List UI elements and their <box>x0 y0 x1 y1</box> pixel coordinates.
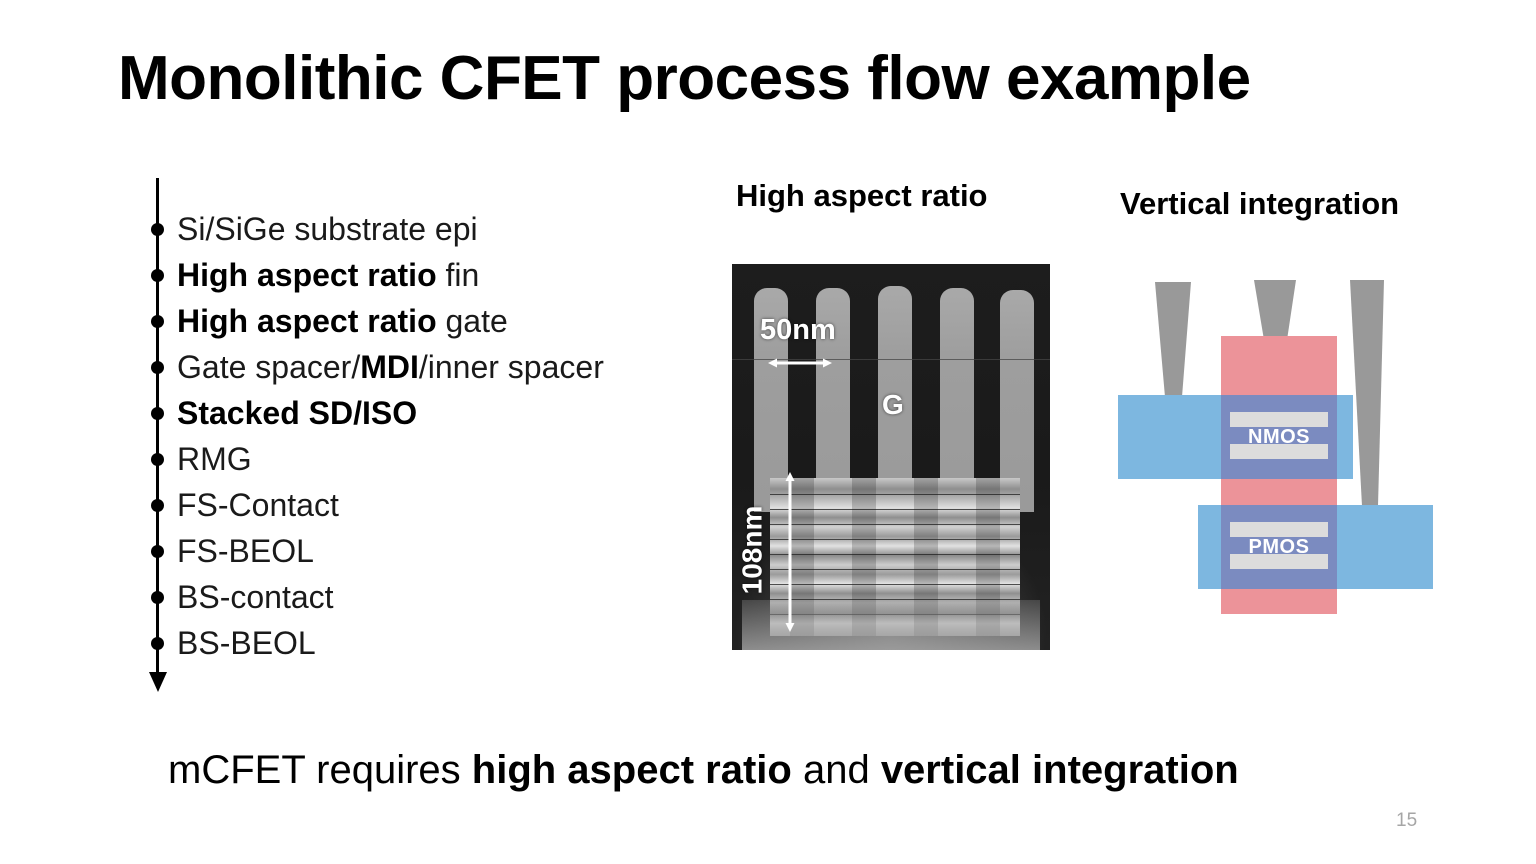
tem-height-arrow-icon <box>784 472 796 632</box>
tem-width-label: 50nm <box>760 314 836 347</box>
nmos-nanosheet <box>1230 412 1328 427</box>
flow-step-label: FS-BEOL <box>177 535 314 567</box>
bullet-dot-icon <box>151 499 164 512</box>
flow-step-label: Si/SiGe substrate epi <box>177 213 478 245</box>
flow-step: FS-Contact <box>150 482 339 528</box>
contact-wedge-icon <box>1148 282 1198 397</box>
high-aspect-ratio-heading: High aspect ratio <box>736 178 988 214</box>
bullet-dot-icon <box>151 591 164 604</box>
flow-step: Gate spacer/MDI/inner spacer <box>150 344 604 390</box>
flow-step-label: Gate spacer/MDI/inner spacer <box>177 351 604 383</box>
tem-gate-label: G <box>882 389 904 421</box>
flow-step-label: BS-BEOL <box>177 627 316 659</box>
pmos-label: PMOS <box>1230 536 1328 559</box>
flow-step: BS-contact <box>150 574 334 620</box>
tem-width-arrow-icon <box>768 357 832 369</box>
flow-step: High aspect ratio gate <box>150 298 508 344</box>
page-title: Monolithic CFET process flow example <box>118 46 1418 113</box>
bullet-dot-icon <box>151 223 164 236</box>
flow-step-label: High aspect ratio gate <box>177 305 508 337</box>
pmos-nanosheet <box>1230 522 1328 537</box>
bullet-dot-icon <box>151 361 164 374</box>
flow-step: RMG <box>150 436 252 482</box>
flow-step-label: FS-Contact <box>177 489 339 521</box>
vertical-integration-heading: Vertical integration <box>1120 186 1399 222</box>
flow-step: Stacked SD/ISO <box>150 390 417 436</box>
page-number: 15 <box>1396 810 1417 832</box>
flow-step-label: High aspect ratio fin <box>177 259 479 291</box>
tem-micrograph: 50nm G 108nm <box>732 264 1050 650</box>
slide-canvas: Monolithic CFET process flow example Si/… <box>0 0 1536 864</box>
flow-step: FS-BEOL <box>150 528 314 574</box>
bullet-dot-icon <box>151 545 164 558</box>
contact-wedge-icon <box>1250 280 1300 340</box>
flow-step-label: RMG <box>177 443 252 475</box>
bullet-dot-icon <box>151 315 164 328</box>
flow-step-label: Stacked SD/ISO <box>177 397 417 429</box>
down-arrow-icon <box>149 672 167 692</box>
tem-height-label: 108nm <box>736 506 768 595</box>
bullet-dot-icon <box>151 637 164 650</box>
bullet-dot-icon <box>151 407 164 420</box>
flow-step-label: BS-contact <box>177 581 334 613</box>
process-flow-list: Si/SiGe substrate epiHigh aspect ratio f… <box>150 178 710 708</box>
bullet-dot-icon <box>151 453 164 466</box>
flow-step: Si/SiGe substrate epi <box>150 206 478 252</box>
flow-step: High aspect ratio fin <box>150 252 479 298</box>
vertical-integration-diagram: NMOS PMOS <box>1118 272 1448 640</box>
nmos-label: NMOS <box>1230 426 1328 449</box>
summary-caption: mCFET requires high aspect ratio and ver… <box>168 748 1428 792</box>
bullet-dot-icon <box>151 269 164 282</box>
flow-step: BS-BEOL <box>150 620 316 666</box>
